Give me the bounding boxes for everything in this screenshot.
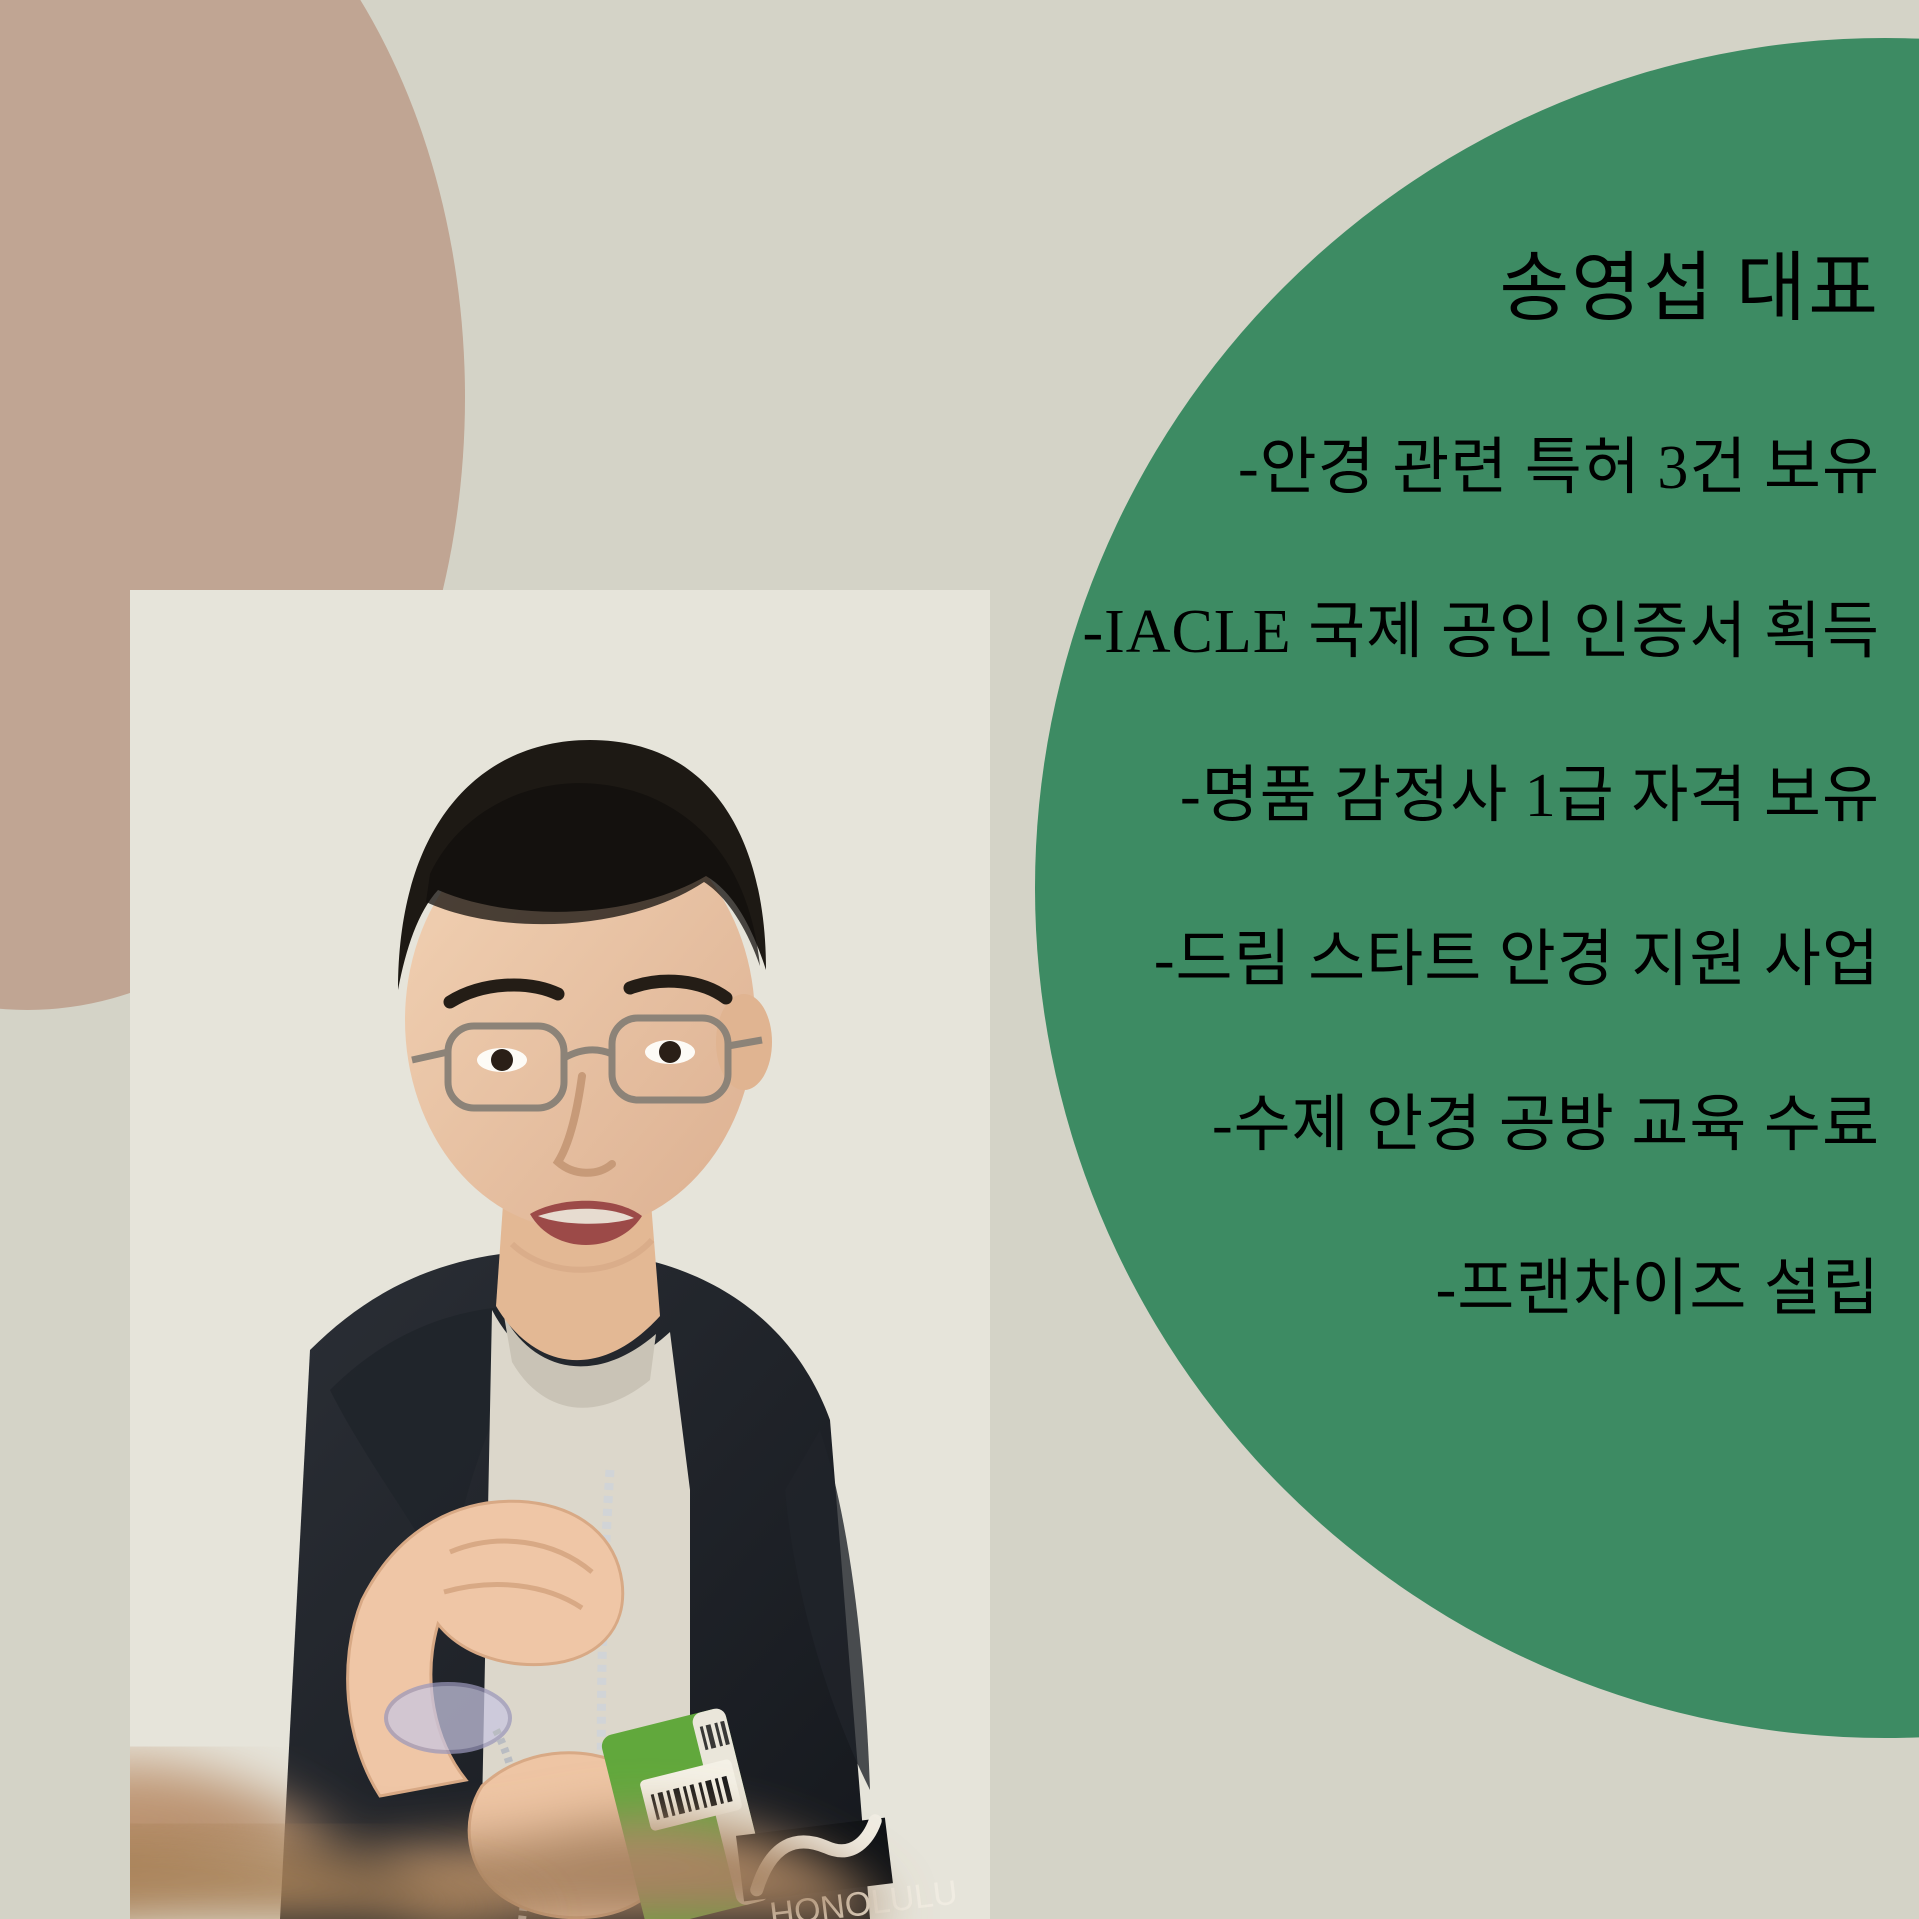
representative-photo-illustration: HONOLULU xyxy=(130,590,990,1919)
page-title: 송영섭 대표 xyxy=(880,250,1880,330)
credential-item-5: -수제 안경 공방 교육 수료 xyxy=(880,1091,1880,1159)
credential-item-1: -안경 관련 특허 3건 보유 xyxy=(880,434,1880,502)
credential-item-4: -드림 스타트 안경 지원 사업 xyxy=(880,926,1880,994)
credential-item-2: -IACLE 국제 공인 인증서 획득 xyxy=(880,598,1880,666)
profile-poster: HONOLULU 송영섭 대표 -안경 관련 특허 3건 보유 -IACLE 국… xyxy=(0,0,1919,1919)
credential-item-6: -프랜차이즈 설립 xyxy=(880,1255,1880,1323)
credentials-block: 송영섭 대표 -안경 관련 특허 3건 보유 -IACLE 국제 공인 인증서 … xyxy=(880,250,1880,1323)
credential-item-3: -명품 감정사 1급 자격 보유 xyxy=(880,762,1880,830)
representative-photo: HONOLULU xyxy=(130,590,990,1919)
